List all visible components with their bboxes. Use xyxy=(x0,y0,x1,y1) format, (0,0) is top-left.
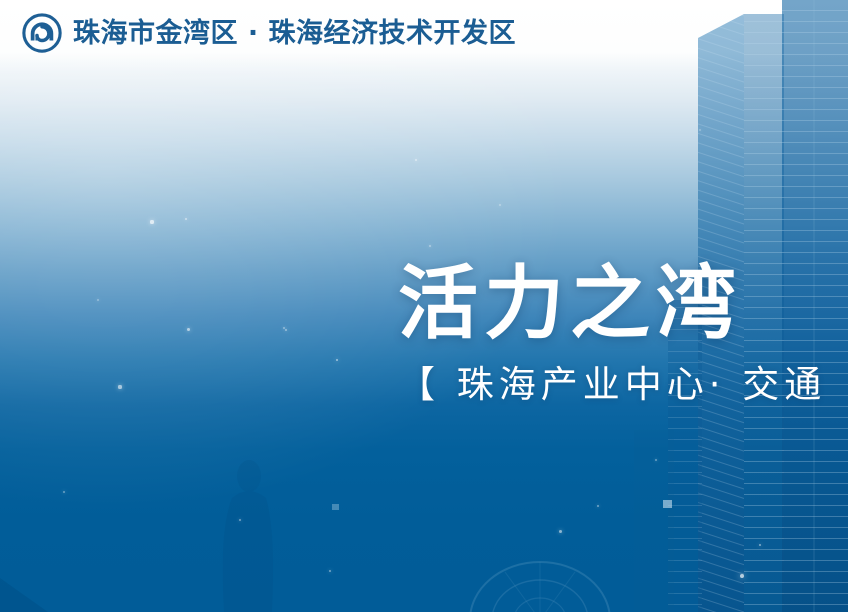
sparkle-dot xyxy=(740,574,744,578)
circular-dome-stadium-silhouette xyxy=(470,562,610,612)
sparkle-dot xyxy=(415,159,418,162)
foreground-silhouettes xyxy=(0,372,848,612)
sparkle-dot xyxy=(283,327,285,329)
sparkle-dot xyxy=(97,299,99,301)
circular-arch-swirl-emblem-icon[interactable] xyxy=(22,13,62,53)
sparkle-dot xyxy=(239,519,242,522)
sparkle-dot xyxy=(329,570,332,573)
sparkle-dot xyxy=(63,491,65,493)
statue-silhouette xyxy=(223,460,274,612)
bottom-left-landform xyxy=(0,578,48,612)
hero-headline: 活力之湾 xyxy=(398,262,826,345)
sparkle-dot xyxy=(185,218,187,220)
sparkle-dot xyxy=(499,204,501,206)
sparkle-dot xyxy=(336,359,339,362)
window-highlight xyxy=(332,500,672,510)
sparkle-dot xyxy=(187,328,190,331)
sparkle-dot xyxy=(285,329,287,331)
sparkle-dot xyxy=(118,385,121,388)
sparkle-dot xyxy=(759,544,762,547)
hero-copy-block: 活力之湾 【 珠海产业中心· 交通 xyxy=(398,262,826,406)
sparkle-dot xyxy=(655,459,657,461)
promo-banner-screen: 珠海市金湾区 · 珠海经济技术开发区 活力之湾 【 珠海产业中心· 交通 xyxy=(0,0,848,612)
skyline-tower-backdrop xyxy=(634,430,674,612)
sparkle-dot xyxy=(699,129,701,131)
sparkle-dot xyxy=(150,220,153,223)
site-header: 珠海市金湾区 · 珠海经济技术开发区 xyxy=(0,0,848,66)
sparkle-dot xyxy=(597,505,599,507)
hero-subline: 【 珠海产业中心· 交通 xyxy=(398,365,826,406)
site-title: 珠海市金湾区 · 珠海经济技术开发区 xyxy=(73,20,516,47)
sparkle-dot xyxy=(429,245,431,247)
sparkle-dot xyxy=(559,530,562,533)
